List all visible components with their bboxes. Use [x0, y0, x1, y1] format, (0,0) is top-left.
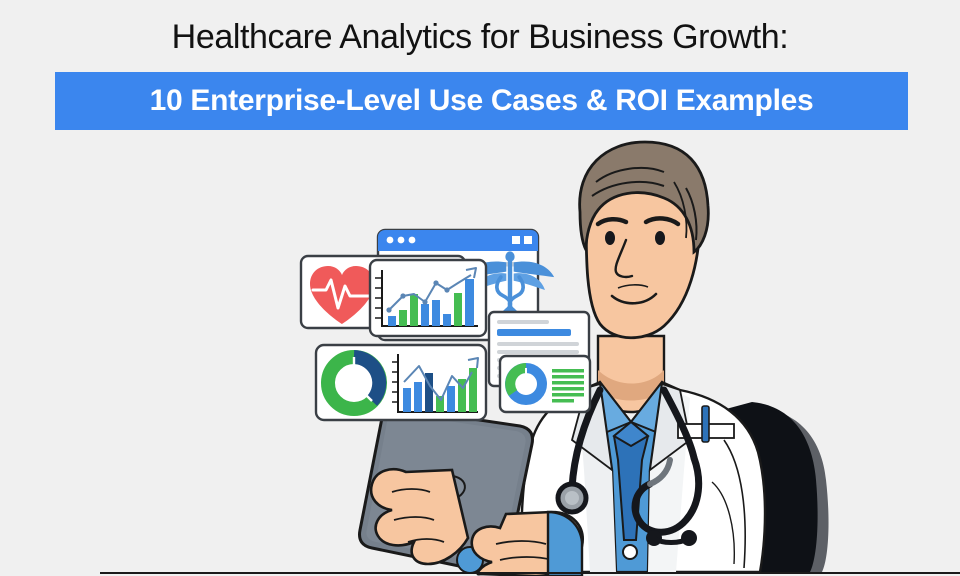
subtitle-banner: 10 Enterprise-Level Use Cases & ROI Exam…: [55, 72, 908, 130]
subtitle-text: 10 Enterprise-Level Use Cases & ROI Exam…: [150, 84, 814, 118]
doctor-head: [580, 142, 709, 338]
page-title: Healthcare Analytics for Business Growth…: [0, 16, 960, 58]
bar: [414, 382, 422, 412]
browser-dot-3: [409, 237, 416, 244]
baseline-rule: [100, 572, 960, 574]
bar: [399, 310, 407, 326]
bar-chart-card-top[interactable]: [370, 260, 486, 336]
browser-dot-1: [387, 237, 394, 244]
bar: [410, 294, 418, 326]
bar: [447, 386, 455, 412]
highlight-line: [497, 329, 571, 336]
donut-chart: [510, 368, 542, 400]
donut-bar-card[interactable]: [316, 345, 486, 420]
mini-donut-card[interactable]: [500, 356, 590, 412]
bar: [403, 388, 411, 412]
illustration: [0, 140, 960, 576]
bar: [443, 314, 451, 326]
title-block: Healthcare Analytics for Business Growth…: [0, 16, 960, 58]
poster-canvas: Healthcare Analytics for Business Growth…: [0, 0, 960, 576]
bar: [421, 304, 429, 326]
bar: [388, 316, 396, 326]
browser-dot-2: [398, 237, 405, 244]
bar: [432, 300, 440, 326]
bar: [465, 279, 474, 326]
bar: [454, 293, 462, 326]
